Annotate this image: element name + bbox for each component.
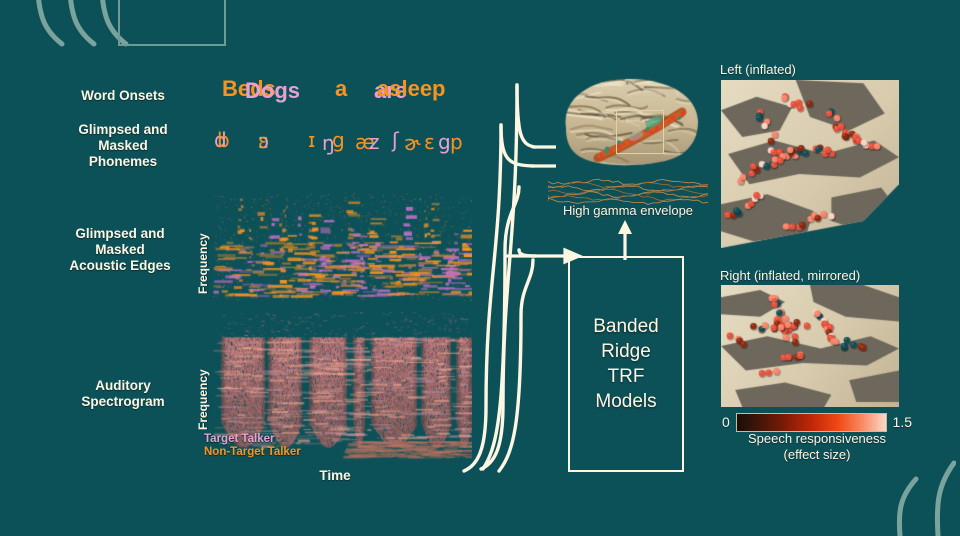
auditory-spectrogram-y-axis-label: Frequency xyxy=(196,338,210,430)
row-label-auditory-line1: Auditory xyxy=(40,378,206,394)
phoneme-token: ɪ xyxy=(308,128,315,152)
acoustic-edges-spectrogram xyxy=(213,193,472,301)
row-label-acoustic-edges-line1: Glimpsed and xyxy=(34,226,206,242)
model-box-line3: TRF xyxy=(608,364,645,389)
legend-target-talker: Target Talker xyxy=(204,433,301,446)
phoneme-token: ɛ xyxy=(424,130,435,154)
row-label-word-onsets: Word Onsets xyxy=(40,88,206,104)
phoneme-token: z xyxy=(369,130,380,154)
decorative-rectangle-top-left xyxy=(118,0,226,46)
model-to-brain-arrow xyxy=(610,218,640,260)
phoneme-token: ʃ xyxy=(392,128,399,152)
row-label-acoustic-edges: Glimpsed and Masked Acoustic Edges xyxy=(34,226,206,274)
phoneme-token: ɚ xyxy=(404,131,420,155)
row-label-phonemes-line1: Glimpsed and xyxy=(40,122,206,138)
row-label-phonemes: Glimpsed and Masked Phonemes xyxy=(40,122,206,170)
row-label-acoustic-edges-line2: Masked xyxy=(34,242,206,258)
phoneme-token: g xyxy=(438,130,451,154)
acoustic-edges-y-axis-label: Frequency xyxy=(196,202,210,294)
left-hemisphere-map xyxy=(721,80,899,248)
row-label-phonemes-line3: Phonemes xyxy=(40,154,206,170)
right-hemisphere-title: Right (inflated, mirrored) xyxy=(720,268,860,283)
row-label-acoustic-edges-line3: Acoustic Edges xyxy=(34,258,206,274)
brain-roi-box xyxy=(616,110,664,154)
colorbar: 0 1.5 xyxy=(722,411,912,433)
high-gamma-envelope-traces xyxy=(548,178,708,206)
model-box-line1: Banded xyxy=(593,314,659,339)
phoneme-token: ɛ xyxy=(258,129,269,153)
auditory-spectrogram-x-axis-label: Time xyxy=(270,468,400,484)
model-box-line4: Models xyxy=(595,389,656,414)
word-onset-token: a xyxy=(335,76,347,102)
slide-canvas: Word Onsets Glimpsed and Masked Phonemes… xyxy=(0,0,960,530)
colorbar-gradient xyxy=(736,413,887,432)
phoneme-token: b xyxy=(217,128,230,152)
row-label-phonemes-line2: Masked xyxy=(40,138,206,154)
colorbar-caption: Speech responsiveness (effect size) xyxy=(712,431,922,463)
colorbar-max-label: 1.5 xyxy=(893,414,912,430)
model-box-line2: Ridge xyxy=(601,339,651,364)
spectrogram-legend: Target Talker Non-Target Talker xyxy=(204,433,301,459)
phoneme-token: g xyxy=(332,128,345,152)
word-onsets-stimulus: BedsDogsaareasleep xyxy=(222,76,472,110)
colorbar-caption-line1: Speech responsiveness xyxy=(712,431,922,447)
legend-non-target-talker: Non-Target Talker xyxy=(204,446,301,459)
colorbar-min-label: 0 xyxy=(722,414,730,430)
banded-ridge-trf-model-box[interactable]: Banded Ridge TRF Models xyxy=(568,256,684,472)
colorbar-caption-line2: (effect size) xyxy=(712,447,922,463)
word-onset-token: Dogs xyxy=(245,78,300,104)
left-hemisphere-title: Left (inflated) xyxy=(720,62,796,77)
lateral-brain-illustration xyxy=(556,70,704,176)
row-label-auditory-line2: Spectrogram xyxy=(40,394,206,410)
row-label-auditory-spectrogram: Auditory Spectrogram xyxy=(40,378,206,410)
high-gamma-envelope-label: High gamma envelope xyxy=(528,203,728,219)
word-onset-token: asleep xyxy=(377,76,446,102)
phoneme-stimulus: dbɔɛɪŋgæzʃɚɛgp xyxy=(212,128,472,162)
right-hemisphere-map xyxy=(721,285,899,407)
